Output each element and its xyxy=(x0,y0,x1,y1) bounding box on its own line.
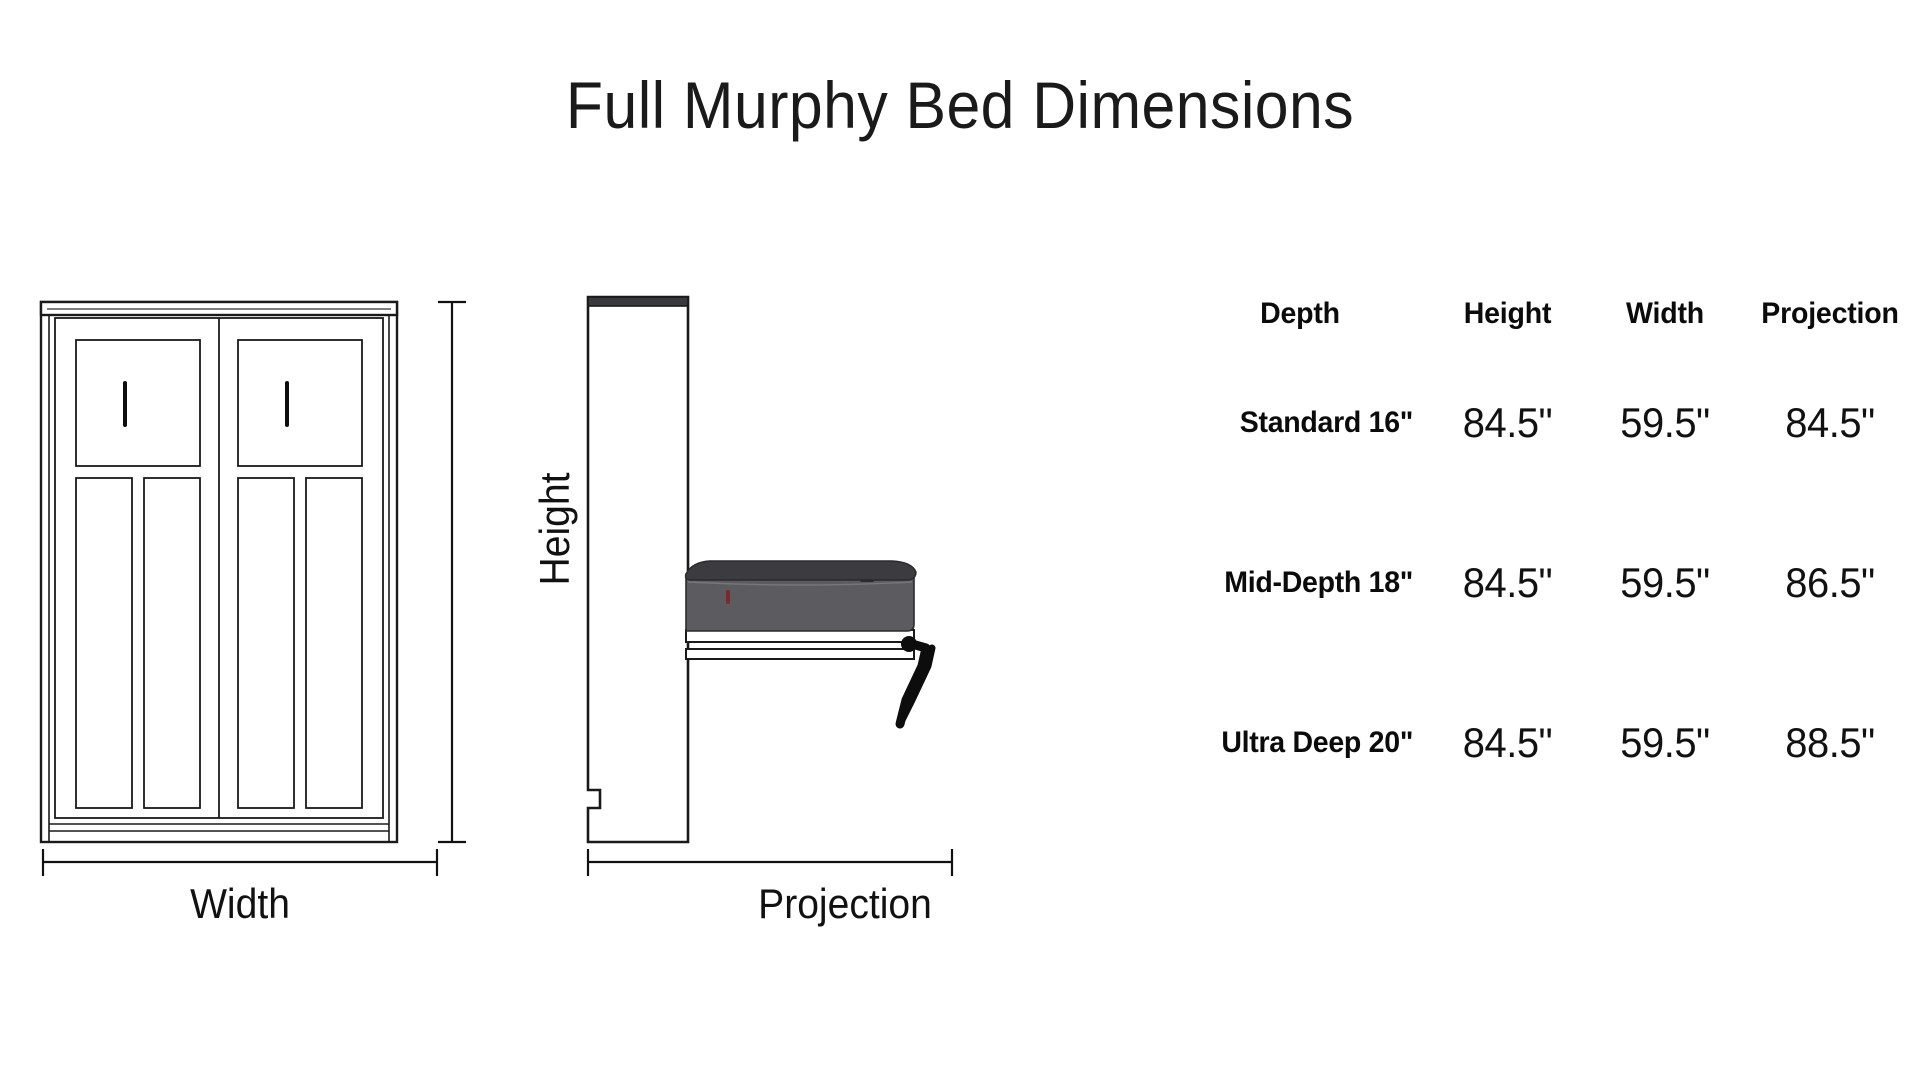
door-left-lower-panel-b xyxy=(144,478,200,808)
dimensions-table: Depth Height Width Projection Standard 1… xyxy=(1175,285,1920,823)
cell-ultra-deep-height: 84.5" xyxy=(1429,663,1586,823)
height-dimension-line xyxy=(438,302,466,842)
door-left-lower-panel-a xyxy=(76,478,132,808)
bed-frame-rails xyxy=(686,630,914,659)
cell-standard-height: 84.5" xyxy=(1429,343,1586,503)
door-right-upper-panel xyxy=(238,340,362,466)
page-title: Full Murphy Bed Dimensions xyxy=(77,72,1843,138)
front-elevation-diagram xyxy=(0,230,560,930)
cabinet-side-panel xyxy=(588,297,688,842)
cell-standard-width: 59.5" xyxy=(1594,343,1737,503)
table-row: Ultra Deep 20" 84.5" 59.5" 88.5" xyxy=(1175,663,1920,823)
bed-support-leg xyxy=(900,636,932,724)
diagram-canvas: Full Murphy Bed Dimensions xyxy=(0,0,1920,1080)
width-dimension-line xyxy=(43,849,437,876)
door-left-upper-panel xyxy=(76,340,200,466)
column-header-projection: Projection xyxy=(1745,285,1916,343)
leg-pivot-dot xyxy=(901,636,917,652)
projection-dimension-line xyxy=(588,849,952,876)
table-header-row: Depth Height Width Projection xyxy=(1175,285,1920,343)
cell-ultra-deep-width: 59.5" xyxy=(1594,663,1737,823)
side-elevation-diagram xyxy=(560,230,1180,930)
width-dimension-label: Width xyxy=(17,880,463,928)
table-row: Standard 16" 84.5" 59.5" 84.5" xyxy=(1175,343,1920,503)
column-header-depth: Depth xyxy=(1181,285,1419,343)
cell-mid-depth-projection: 86.5" xyxy=(1745,503,1916,663)
mattress-body xyxy=(686,574,914,631)
mattress-top-surface xyxy=(686,561,917,580)
cabinet-side-top-cap xyxy=(588,297,688,306)
row-label-mid-depth: Mid-Depth 18" xyxy=(1181,503,1419,663)
cell-mid-depth-width: 59.5" xyxy=(1594,503,1737,663)
door-right-lower-panel-b xyxy=(306,478,362,808)
cell-standard-projection: 84.5" xyxy=(1745,343,1916,503)
column-header-width: Width xyxy=(1594,285,1737,343)
column-header-height: Height xyxy=(1429,285,1586,343)
row-label-ultra-deep: Ultra Deep 20" xyxy=(1181,663,1419,823)
mattress-brand-tag xyxy=(726,590,730,604)
door-right-lower-panel-a xyxy=(238,478,294,808)
projection-dimension-label: Projection xyxy=(575,880,1114,928)
mattress xyxy=(686,561,917,631)
cell-ultra-deep-projection: 88.5" xyxy=(1745,663,1916,823)
mattress-tuft-dot xyxy=(860,579,874,582)
row-label-standard: Standard 16" xyxy=(1181,343,1419,503)
cell-mid-depth-height: 84.5" xyxy=(1429,503,1586,663)
height-dimension-label: Height xyxy=(531,408,579,650)
table-row: Mid-Depth 18" 84.5" 59.5" 86.5" xyxy=(1175,503,1920,663)
